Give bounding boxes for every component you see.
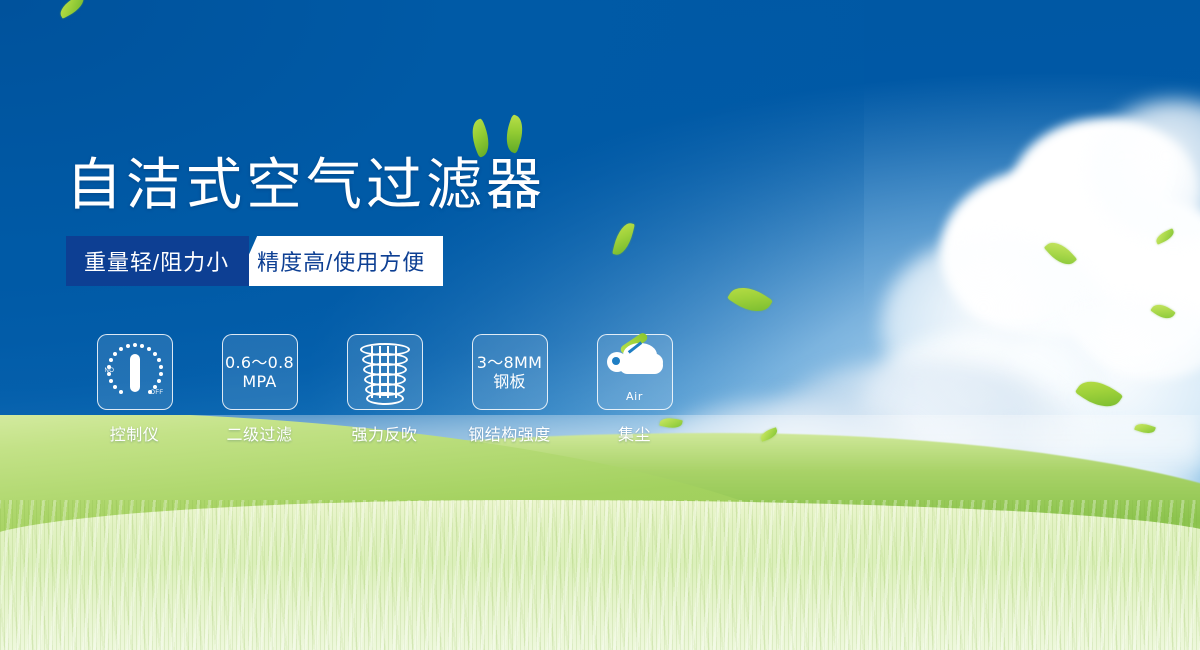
feature-icon-box: NO OFF (97, 334, 173, 410)
feature-caption: 强力反吹 (351, 421, 417, 445)
pressure-text-icon: 0.6～0.8 MPA (225, 353, 294, 391)
feature-icon-box: Air (597, 334, 673, 410)
page-title: 自洁式空气过滤器 (66, 140, 546, 221)
badge-primary: 重量轻/阻力小 (66, 236, 249, 286)
feature-list: NO OFF 控制仪 0.6～0.8 MPA 二级过滤 (72, 334, 697, 445)
feature-item-steel-strength[interactable]: 3～8MM 钢板 钢结构强度 (447, 334, 572, 445)
steel-line-1: 3～8MM (477, 353, 542, 372)
pressure-line-2: MPA (225, 372, 294, 391)
feature-caption: 钢结构强度 (468, 421, 551, 445)
pressure-line-1: 0.6～0.8 (225, 353, 294, 372)
feature-item-blowback[interactable]: 强力反吹 (322, 334, 447, 445)
dial-needle (130, 354, 140, 392)
air-cloud-icon (605, 341, 665, 389)
feature-icon-box (347, 334, 423, 410)
control-dial-icon: NO OFF (104, 341, 166, 403)
feature-item-controller[interactable]: NO OFF 控制仪 (72, 334, 197, 445)
dial-on-label: NO (105, 368, 115, 374)
steel-line-2: 钢板 (477, 372, 542, 391)
banner-content: 自洁式空气过滤器 重量轻/阻力小 精度高/使用方便 (0, 0, 1200, 650)
feature-icon-box: 0.6～0.8 MPA (222, 334, 298, 410)
feature-caption: 集尘 (618, 421, 651, 445)
feature-icon-box: 3～8MM 钢板 (472, 334, 548, 410)
coil-spiral-icon (359, 343, 411, 401)
air-label: Air (626, 390, 643, 403)
feature-caption: 控制仪 (110, 421, 160, 445)
tagline-badge-bar: 重量轻/阻力小 精度高/使用方便 (66, 236, 443, 286)
feature-item-secondary-filter[interactable]: 0.6～0.8 MPA 二级过滤 (197, 334, 322, 445)
steel-plate-text-icon: 3～8MM 钢板 (477, 353, 542, 391)
feature-item-dust-collection[interactable]: Air 集尘 (572, 334, 697, 445)
product-hero-banner: 自洁式空气过滤器 重量轻/阻力小 精度高/使用方便 (0, 0, 1200, 650)
badge-secondary: 精度高/使用方便 (235, 236, 443, 286)
feature-caption: 二级过滤 (226, 421, 292, 445)
dial-off-label: OFF (150, 390, 163, 396)
